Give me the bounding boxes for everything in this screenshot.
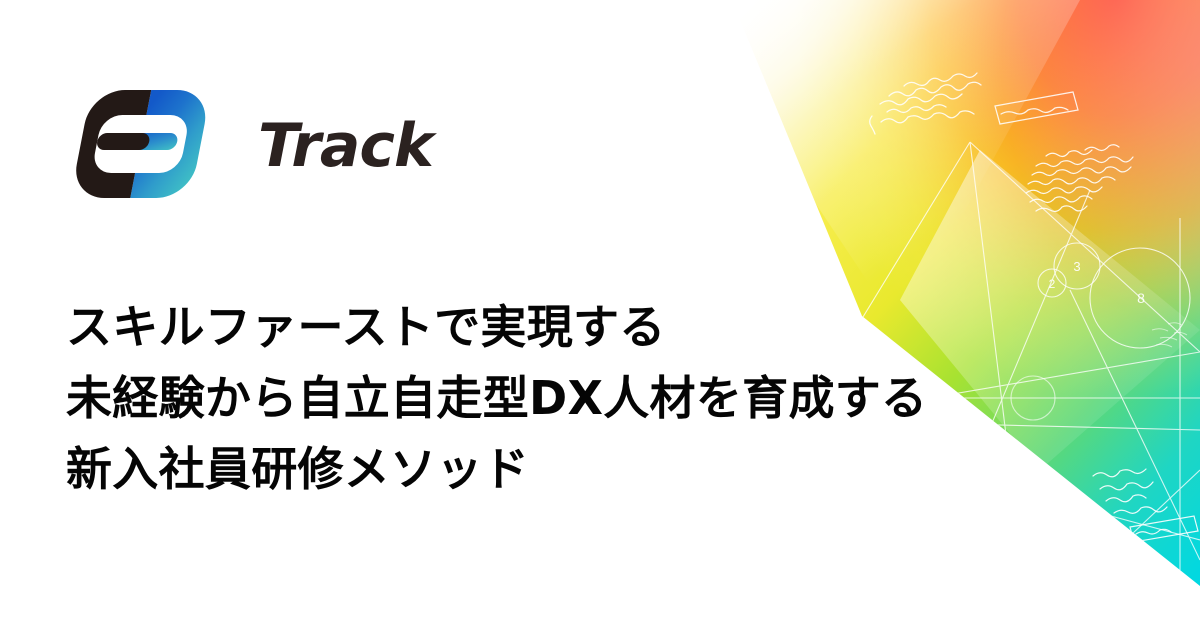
tangent-circle-diagram: 2 3 8 [1011,243,1190,420]
circle-label-2: 2 [1049,277,1056,291]
brand-logo: Track [66,86,448,202]
headline-line-1: スキルファーストで実現する [66,292,986,363]
handwriting-scribble-top [870,73,1078,134]
brand-wordmark: Track [258,110,448,184]
og-image-card: 2 3 8 [0,0,1200,630]
handwriting-scribble-middle [1026,145,1133,212]
page-title: スキルファーストで実現する 未経験から自立自走型DX人材を育成する 新入社員研修… [66,292,986,505]
headline-line-3: 新入社員研修メソッド [66,434,986,505]
sparkle-texture [1152,323,1187,347]
handwriting-scribble-bottom [1093,469,1198,542]
e-track-logo-mark [66,86,234,202]
wordmark-text: Track [258,111,437,181]
headline-line-2: 未経験から自立自走型DX人材を育成する [66,363,986,434]
circle-label-3: 3 [1073,259,1080,274]
circle-label-8: 8 [1137,290,1145,306]
